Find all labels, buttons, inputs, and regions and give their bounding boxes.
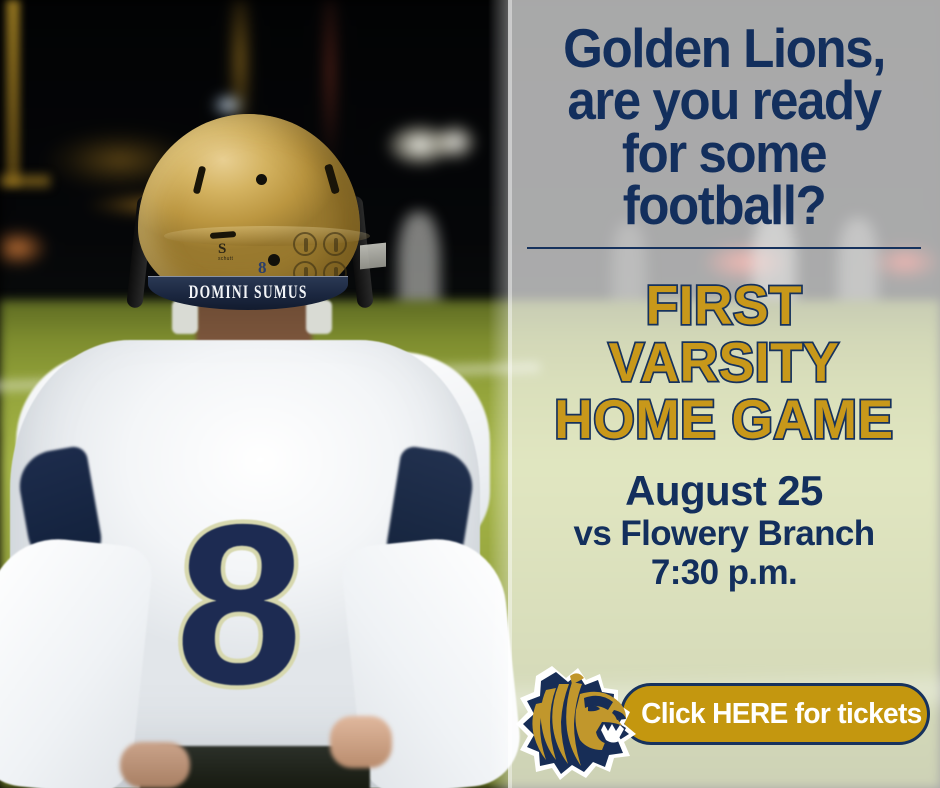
event-date: August 25: [573, 469, 874, 514]
schutt-brand-name: schutt: [218, 257, 233, 262]
helmet-vent: [324, 163, 340, 194]
helmet-screw: [256, 174, 267, 185]
helmet-sticker: [360, 243, 386, 270]
subhead-line-2: VARSITY: [554, 334, 893, 391]
player-hand-left: [120, 742, 190, 788]
content-panel: Golden Lions, are you ready for some foo…: [508, 0, 940, 788]
tickets-button[interactable]: Click HERE for tickets: [620, 683, 930, 745]
cta-row: Click HERE for tickets: [508, 660, 940, 788]
headline-line-1: Golden Lions,: [533, 22, 914, 74]
jersey-number: 8: [146, 490, 334, 720]
helmet-screw: [268, 254, 280, 266]
helmet-decal-icon: [293, 232, 317, 256]
helmet-decal-icon: [323, 232, 347, 256]
tickets-button-label: Click HERE for tickets: [628, 698, 922, 731]
helmet-vent: [193, 166, 207, 195]
schutt-brand-mark: S: [218, 241, 226, 257]
player-hand-right: [330, 716, 392, 768]
subhead-line-1: FIRST: [554, 277, 893, 334]
headline-line-3: for some: [533, 127, 914, 179]
chinstrap-right: [306, 300, 332, 334]
football-player: 8 S schutt 8: [0, 0, 520, 788]
poster-canvas: 8 S schutt 8: [0, 0, 940, 788]
lion-mascot-icon: [514, 660, 644, 786]
player-helmet: S schutt 8 DOMINI SUMUS: [120, 100, 380, 330]
event-details: August 25 vs Flowery Branch 7:30 p.m.: [573, 469, 874, 592]
subhead-line-3: HOME GAME: [554, 391, 893, 448]
event-subtitle: FIRST VARSITY HOME GAME: [554, 277, 893, 449]
headline-line-2: are you ready: [533, 74, 914, 126]
schutt-brand-icon: S schutt: [218, 242, 233, 262]
helmet-bumper-text: DOMINI SUMUS: [188, 282, 307, 303]
headline-line-4: football?: [533, 179, 914, 231]
page-title: Golden Lions, are you ready for some foo…: [533, 22, 914, 231]
helmet-number: 8: [258, 258, 267, 278]
event-time: 7:30 p.m.: [573, 554, 874, 591]
event-opponent: vs Flowery Branch: [573, 515, 874, 552]
divider: [527, 247, 921, 249]
